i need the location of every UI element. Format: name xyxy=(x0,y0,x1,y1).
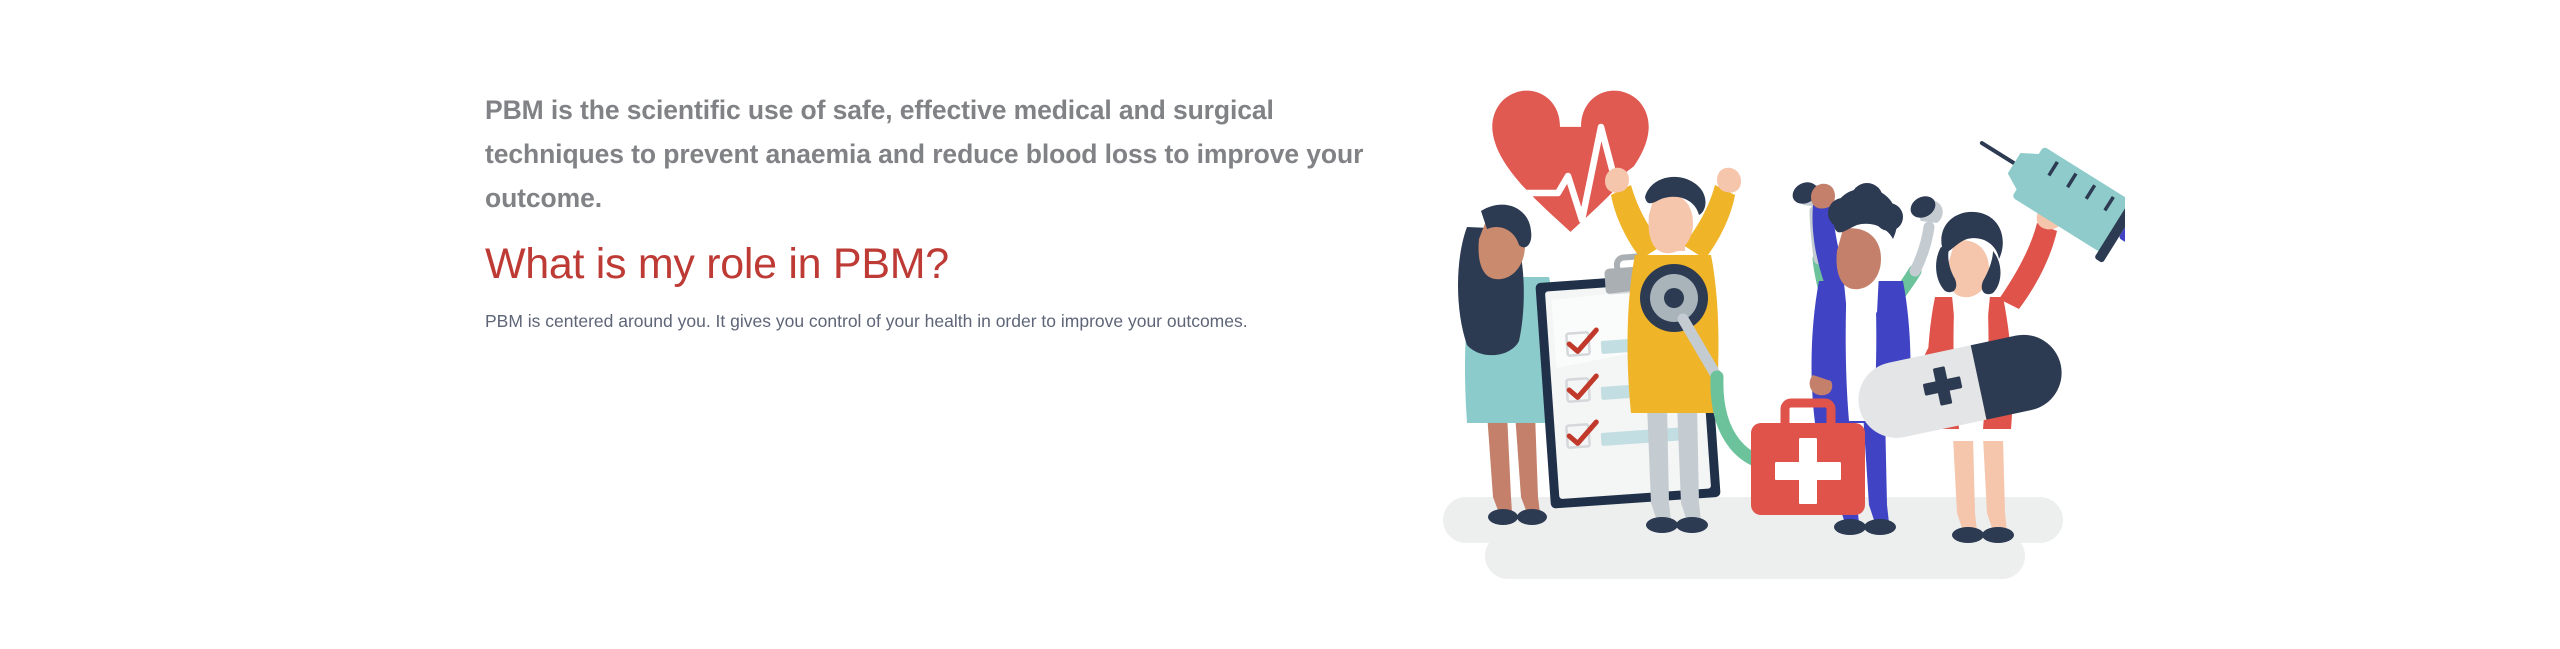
text-column: PBM is the scientific use of safe, effec… xyxy=(485,88,1395,336)
page-canvas: PBM is the scientific use of safe, effec… xyxy=(0,0,2560,649)
lede-paragraph: PBM is the scientific use of safe, effec… xyxy=(485,88,1390,220)
medical-team-illustration xyxy=(1415,45,2125,605)
body-paragraph: PBM is centered around you. It gives you… xyxy=(485,306,1325,336)
page-title: What is my role in PBM? xyxy=(485,238,1395,290)
